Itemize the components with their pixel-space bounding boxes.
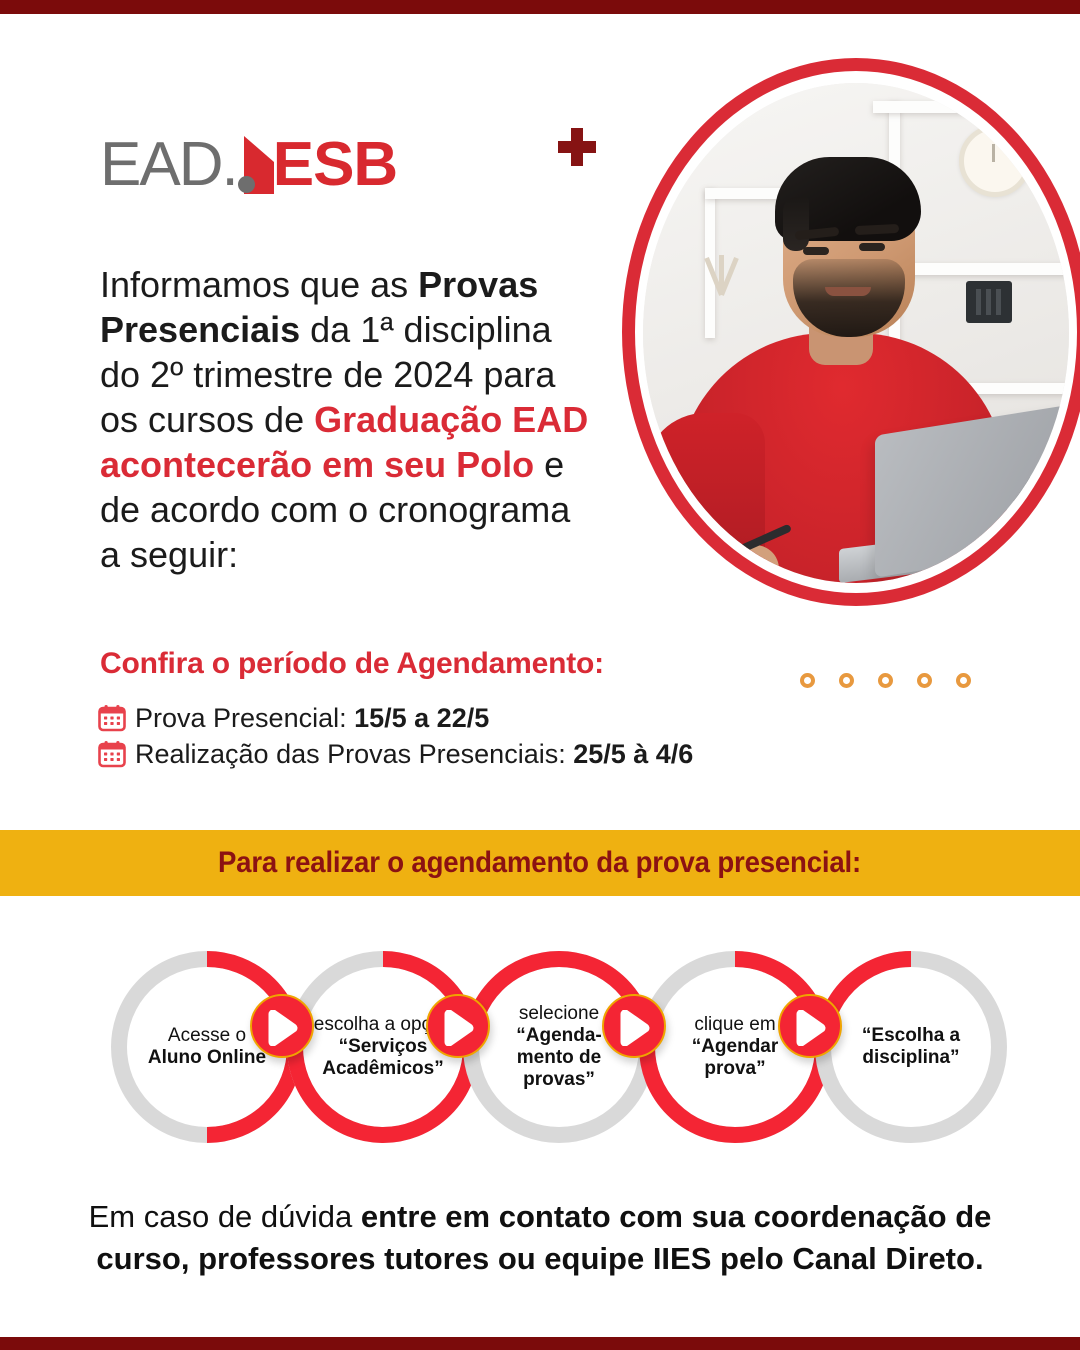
- calendar-icon: [98, 704, 126, 732]
- logo-text-ead: EAD.: [100, 136, 237, 194]
- step-1-line2: Aluno Online: [148, 1047, 266, 1069]
- schedule-title: Confira o período de Agendamento:: [100, 647, 604, 681]
- hexagon-dot-icon: [878, 673, 893, 688]
- step-1-line1: Acesse o: [168, 1025, 246, 1047]
- schedule-row-label: Prova Presencial:: [135, 703, 354, 733]
- chevron-right-icon: [250, 994, 314, 1058]
- brand-logo: EAD. ESB: [100, 132, 397, 194]
- schedule-row: Realização das Provas Presenciais: 25/5 …: [98, 739, 898, 769]
- schedule-list: Prova Presencial: 15/5 a 22/5: [98, 703, 898, 775]
- step-3-line1: selecione: [519, 1003, 599, 1025]
- step-4-line1: clique em: [694, 1014, 775, 1036]
- step-4-line2: “Agendar prova”: [692, 1036, 779, 1080]
- decorative-dots: [800, 673, 971, 688]
- schedule-row-text: Prova Presencial: 15/5 a 22/5: [135, 703, 489, 733]
- logo-i-mark-icon: [238, 136, 274, 194]
- headline-seg1: Informamos que as: [100, 264, 418, 305]
- step-5-line2: “Escolha a disciplina”: [862, 1025, 960, 1069]
- top-accent-bar: [0, 0, 1080, 14]
- hexagon-dot-icon: [800, 673, 815, 688]
- chevron-right-icon: [426, 994, 490, 1058]
- bottom-accent-bar: [0, 1337, 1080, 1350]
- footer-paragraph: Em caso de dúvida entre em contato com s…: [70, 1196, 1010, 1280]
- hexagon-dot-icon: [956, 673, 971, 688]
- instructions-banner-text: Para realizar o agendamento da prova pre…: [218, 846, 861, 880]
- schedule-row: Prova Presencial: 15/5 a 22/5: [98, 703, 898, 733]
- step-3-line2: “Agenda- mento de provas”: [516, 1025, 602, 1091]
- calendar-icon: [98, 740, 126, 768]
- steps-flow: Acesse o Aluno Online escolha a opção “S…: [0, 948, 1080, 1158]
- photo-red-ring: [622, 58, 1080, 606]
- schedule-row-value: 15/5 a 22/5: [354, 703, 489, 733]
- plus-icon: [558, 128, 596, 166]
- logo-text-esb: ESB: [273, 136, 397, 194]
- student-photo: [622, 58, 1080, 618]
- hexagon-dot-icon: [839, 673, 854, 688]
- schedule-row-value: 25/5 à 4/6: [573, 739, 693, 769]
- step-5-label: “Escolha a disciplina”: [830, 948, 992, 1146]
- step-circle-5: “Escolha a disciplina”: [812, 948, 1010, 1146]
- schedule-row-label: Realização das Provas Presenciais:: [135, 739, 573, 769]
- chevron-right-icon: [778, 994, 842, 1058]
- schedule-row-text: Realização das Provas Presenciais: 25/5 …: [135, 739, 693, 769]
- instructions-banner: Para realizar o agendamento da prova pre…: [0, 830, 1080, 896]
- footer-seg1: Em caso de dúvida: [89, 1199, 361, 1234]
- headline-paragraph: Informamos que as Provas Presenciais da …: [100, 262, 600, 577]
- hexagon-dot-icon: [917, 673, 932, 688]
- chevron-right-icon: [602, 994, 666, 1058]
- poster-canvas: EAD. ESB Informamos que as Provas Presen…: [0, 0, 1080, 1350]
